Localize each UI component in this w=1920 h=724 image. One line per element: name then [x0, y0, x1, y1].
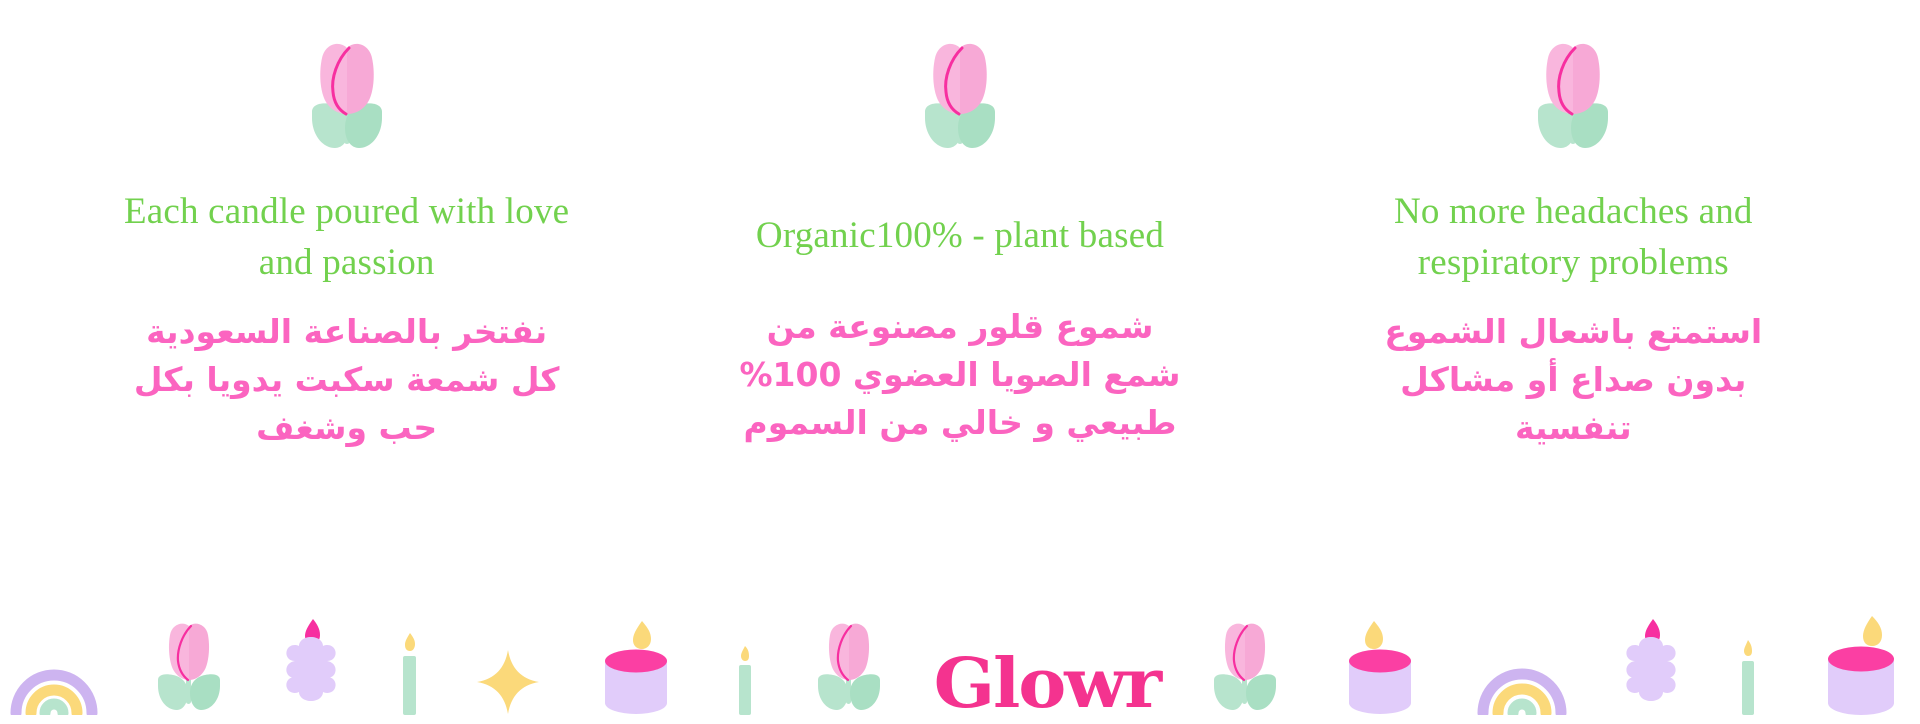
feature-headline: Each candle poured with love and passion — [112, 186, 582, 288]
glowr-feature-banner: Each candle poured with love and passion… — [0, 0, 1920, 720]
feature-arabic-text: نفتخر بالصناعة السعودية كل شمعة سكبت يدو… — [117, 308, 577, 452]
rainbow-icon — [10, 637, 98, 720]
lavender-candle-icon — [1620, 615, 1682, 720]
sparkle-icon — [476, 649, 540, 720]
feature-arabic-text: شموع قلور مصنوعة من شمع الصويا العضوي 10… — [730, 303, 1190, 447]
small-green-candle-icon — [732, 643, 758, 720]
pink-top-candle-icon — [1336, 615, 1424, 720]
footer-decoration-strip: Glowr — [0, 600, 1920, 720]
feature-column-3: No more headaches and respiratory proble… — [1267, 30, 1880, 452]
feature-column-2: Organic100% - plant based شموع قلور مصنو… — [653, 30, 1266, 447]
rainbow-icon — [1476, 633, 1568, 720]
tulip-icon — [150, 620, 228, 720]
features-row: Each candle poured with love and passion… — [0, 0, 1920, 452]
pink-top-candle-icon — [1814, 611, 1910, 720]
lavender-candle-icon — [280, 615, 342, 720]
feature-headline: Organic100% - plant based — [756, 210, 1164, 261]
tulip-icon — [287, 30, 407, 160]
brand-logo-text: Glowr — [934, 650, 1160, 718]
feature-arabic-text: استمتع باشعال الشموع بدون صداع أو مشاكل … — [1343, 308, 1803, 452]
tulip-icon — [1206, 620, 1284, 720]
feature-headline: No more headaches and respiratory proble… — [1338, 186, 1808, 288]
tulip-icon — [810, 620, 888, 720]
small-green-candle-icon — [1734, 637, 1762, 720]
tulip-icon — [1513, 30, 1633, 160]
small-green-candle-icon — [394, 629, 424, 720]
pink-top-candle-icon — [592, 615, 680, 720]
brand-logo[interactable]: Glowr — [940, 650, 1154, 720]
feature-column-1: Each candle poured with love and passion… — [40, 30, 653, 452]
tulip-icon — [900, 30, 1020, 160]
